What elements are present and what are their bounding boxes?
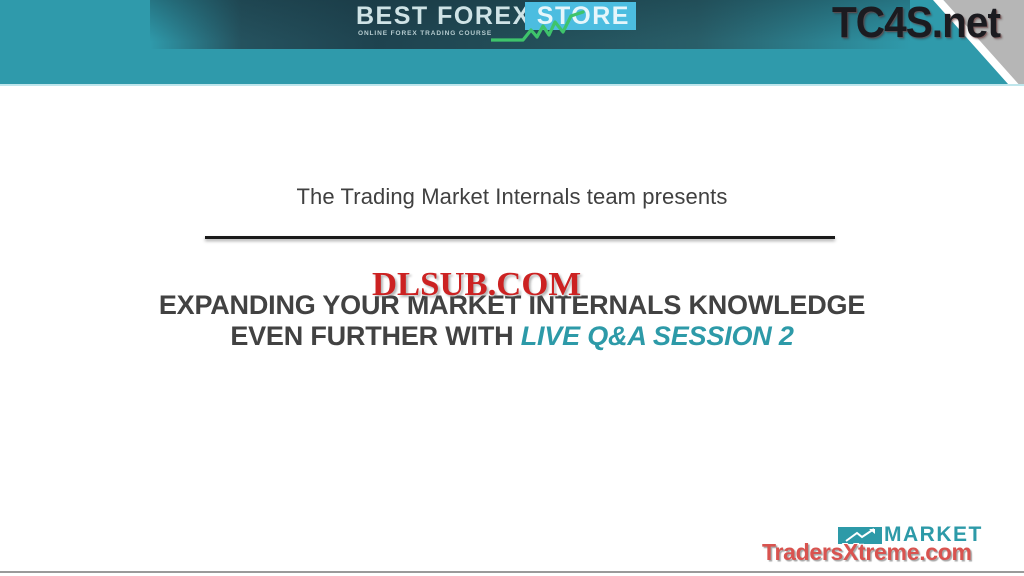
- headline-line-2-prefix: EVEN FURTHER WITH: [230, 321, 520, 351]
- header-band: BEST FOREXSTORE ONLINE FOREX TRADING COU…: [0, 0, 1024, 85]
- brand-word-best: BEST: [356, 2, 429, 30]
- slide-canvas: BEST FOREXSTORE ONLINE FOREX TRADING COU…: [0, 0, 1024, 576]
- best-forex-store-logo: BEST FOREXSTORE ONLINE FOREX TRADING COU…: [356, 2, 666, 44]
- title-divider: [205, 236, 835, 239]
- bottom-border-rule: [0, 571, 1024, 573]
- header-accent-line: [0, 84, 1024, 86]
- brand-tagline: ONLINE FOREX TRADING COURSE: [358, 30, 492, 37]
- dlsub-watermark: DLSUB.COM: [372, 266, 581, 304]
- headline-accent: LIVE Q&A SESSION 2: [521, 321, 794, 351]
- chart-line-icon: [491, 10, 601, 44]
- presents-line: The Trading Market Internals team presen…: [0, 184, 1024, 210]
- tc4s-watermark: TC4S.net: [832, 0, 1000, 48]
- tradersxtreme-watermark: TradersXtreme.com: [762, 539, 972, 566]
